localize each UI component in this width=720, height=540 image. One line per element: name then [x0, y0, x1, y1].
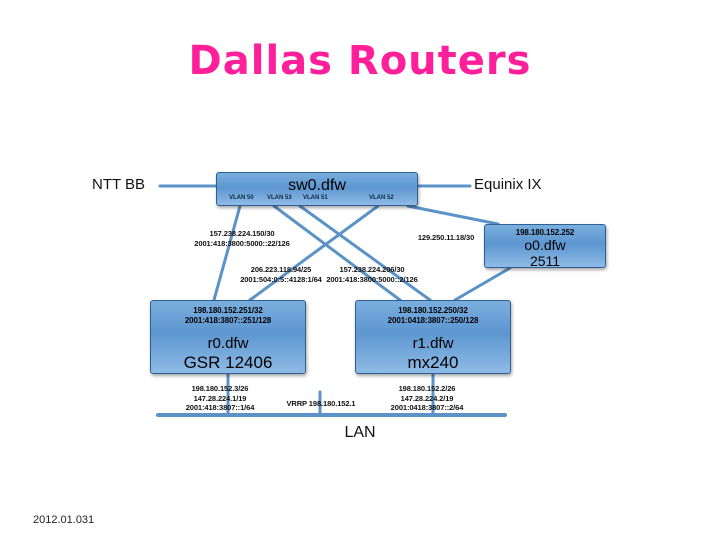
- annotation-r1-uplink: 157.238.224.206/30 2001:418:3800:5000::2…: [312, 265, 432, 284]
- sw0-vlan-50: VLAN 50: [229, 194, 254, 202]
- sw0-vlan-53: VLAN 53: [267, 194, 292, 202]
- r0-identity: r0.dfw GSR 12406: [151, 335, 305, 373]
- annotation-lan-left-v6: 2001:418:3807::1/64: [156, 403, 284, 413]
- annotation-vrrp: VRRP 198.180.152.1: [270, 399, 372, 409]
- r1-identity: r1.dfw mx240: [356, 335, 510, 373]
- r0-loopback-v4: 198.180.152.251/32: [151, 306, 305, 316]
- link-vlan53-to-r1: [274, 206, 400, 300]
- annotation-ntt-link: 157.238.224.150/30 2001:418:3800:5000::2…: [166, 229, 318, 248]
- r0-model: GSR 12406: [151, 353, 305, 373]
- label-ntt-bb: NTT BB: [92, 176, 145, 193]
- annotation-lan-left: 198.180.152.3/26 147.28.224.1/19 2001:41…: [156, 384, 284, 413]
- annotation-lan-left-v4a: 198.180.152.3/26: [156, 384, 284, 394]
- annotation-lan-left-v4b: 147.28.224.1/19: [156, 394, 284, 404]
- annotation-lan-right: 198.180.152.2/26 147.28.224.2/19 2001:04…: [362, 384, 492, 413]
- device-sw0[interactable]: sw0.dfw VLAN 50 VLAN 53 VLAN 51 VLAN 52: [216, 172, 418, 206]
- sw0-vlan-52: VLAN 52: [369, 194, 394, 202]
- label-equinix-ix: Equinix IX: [474, 176, 542, 193]
- annotation-console-link-v4: 129.250.11.18/30: [396, 233, 496, 243]
- r1-model: mx240: [356, 353, 510, 373]
- device-r0[interactable]: 198.180.152.251/32 2001:418:3807::251/12…: [150, 300, 306, 374]
- annotation-lan-right-v4a: 198.180.152.2/26: [362, 384, 492, 394]
- annotation-ntt-link-v4: 157.238.224.150/30: [166, 229, 318, 239]
- link-vlan51-to-r1: [300, 206, 430, 300]
- r1-hostname: r1.dfw: [356, 335, 510, 353]
- o0-model: 2511: [485, 253, 605, 268]
- annotation-lan-right-v6: 2001:0418:3807::2/64: [362, 403, 492, 413]
- label-lan: LAN: [0, 424, 720, 442]
- sw0-hostname: sw0.dfw: [217, 173, 417, 194]
- slide-canvas: Dallas Routers: [0, 0, 720, 540]
- annotation-r1-uplink-v4: 157.238.224.206/30: [312, 265, 432, 275]
- o0-hostname: o0.dfw: [485, 238, 605, 253]
- annotation-console-link: 129.250.11.18/30: [396, 233, 496, 243]
- annotation-lan-right-v4b: 147.28.224.2/19: [362, 394, 492, 404]
- link-vlan50-to-r0: [214, 206, 240, 300]
- r0-hostname: r0.dfw: [151, 335, 305, 353]
- annotation-ntt-link-v6: 2001:418:3800:5000::22/126: [166, 239, 318, 249]
- sw0-vlan-row: VLAN 50 VLAN 53 VLAN 51 VLAN 52: [217, 194, 417, 206]
- link-switch-to-o0: [408, 206, 498, 224]
- footer-date: 2012.01.031: [33, 514, 94, 526]
- link-vlan52-to-r0: [250, 206, 378, 300]
- device-r1[interactable]: 198.180.152.250/32 2001:0418:3807::250/1…: [355, 300, 511, 374]
- r0-loopback-v6: 2001:418:3807::251/128: [151, 316, 305, 326]
- device-o0[interactable]: 198.180.152.252 o0.dfw 2511: [484, 224, 606, 268]
- r1-loopback-v6: 2001:0418:3807::250/128: [356, 316, 510, 326]
- annotation-r1-uplink-v6: 2001:418:3800:5000::2/126: [312, 275, 432, 285]
- sw0-vlan-51: VLAN 51: [303, 194, 328, 202]
- r1-loopback-v4: 198.180.152.250/32: [356, 306, 510, 316]
- link-o0-to-r1: [455, 268, 510, 300]
